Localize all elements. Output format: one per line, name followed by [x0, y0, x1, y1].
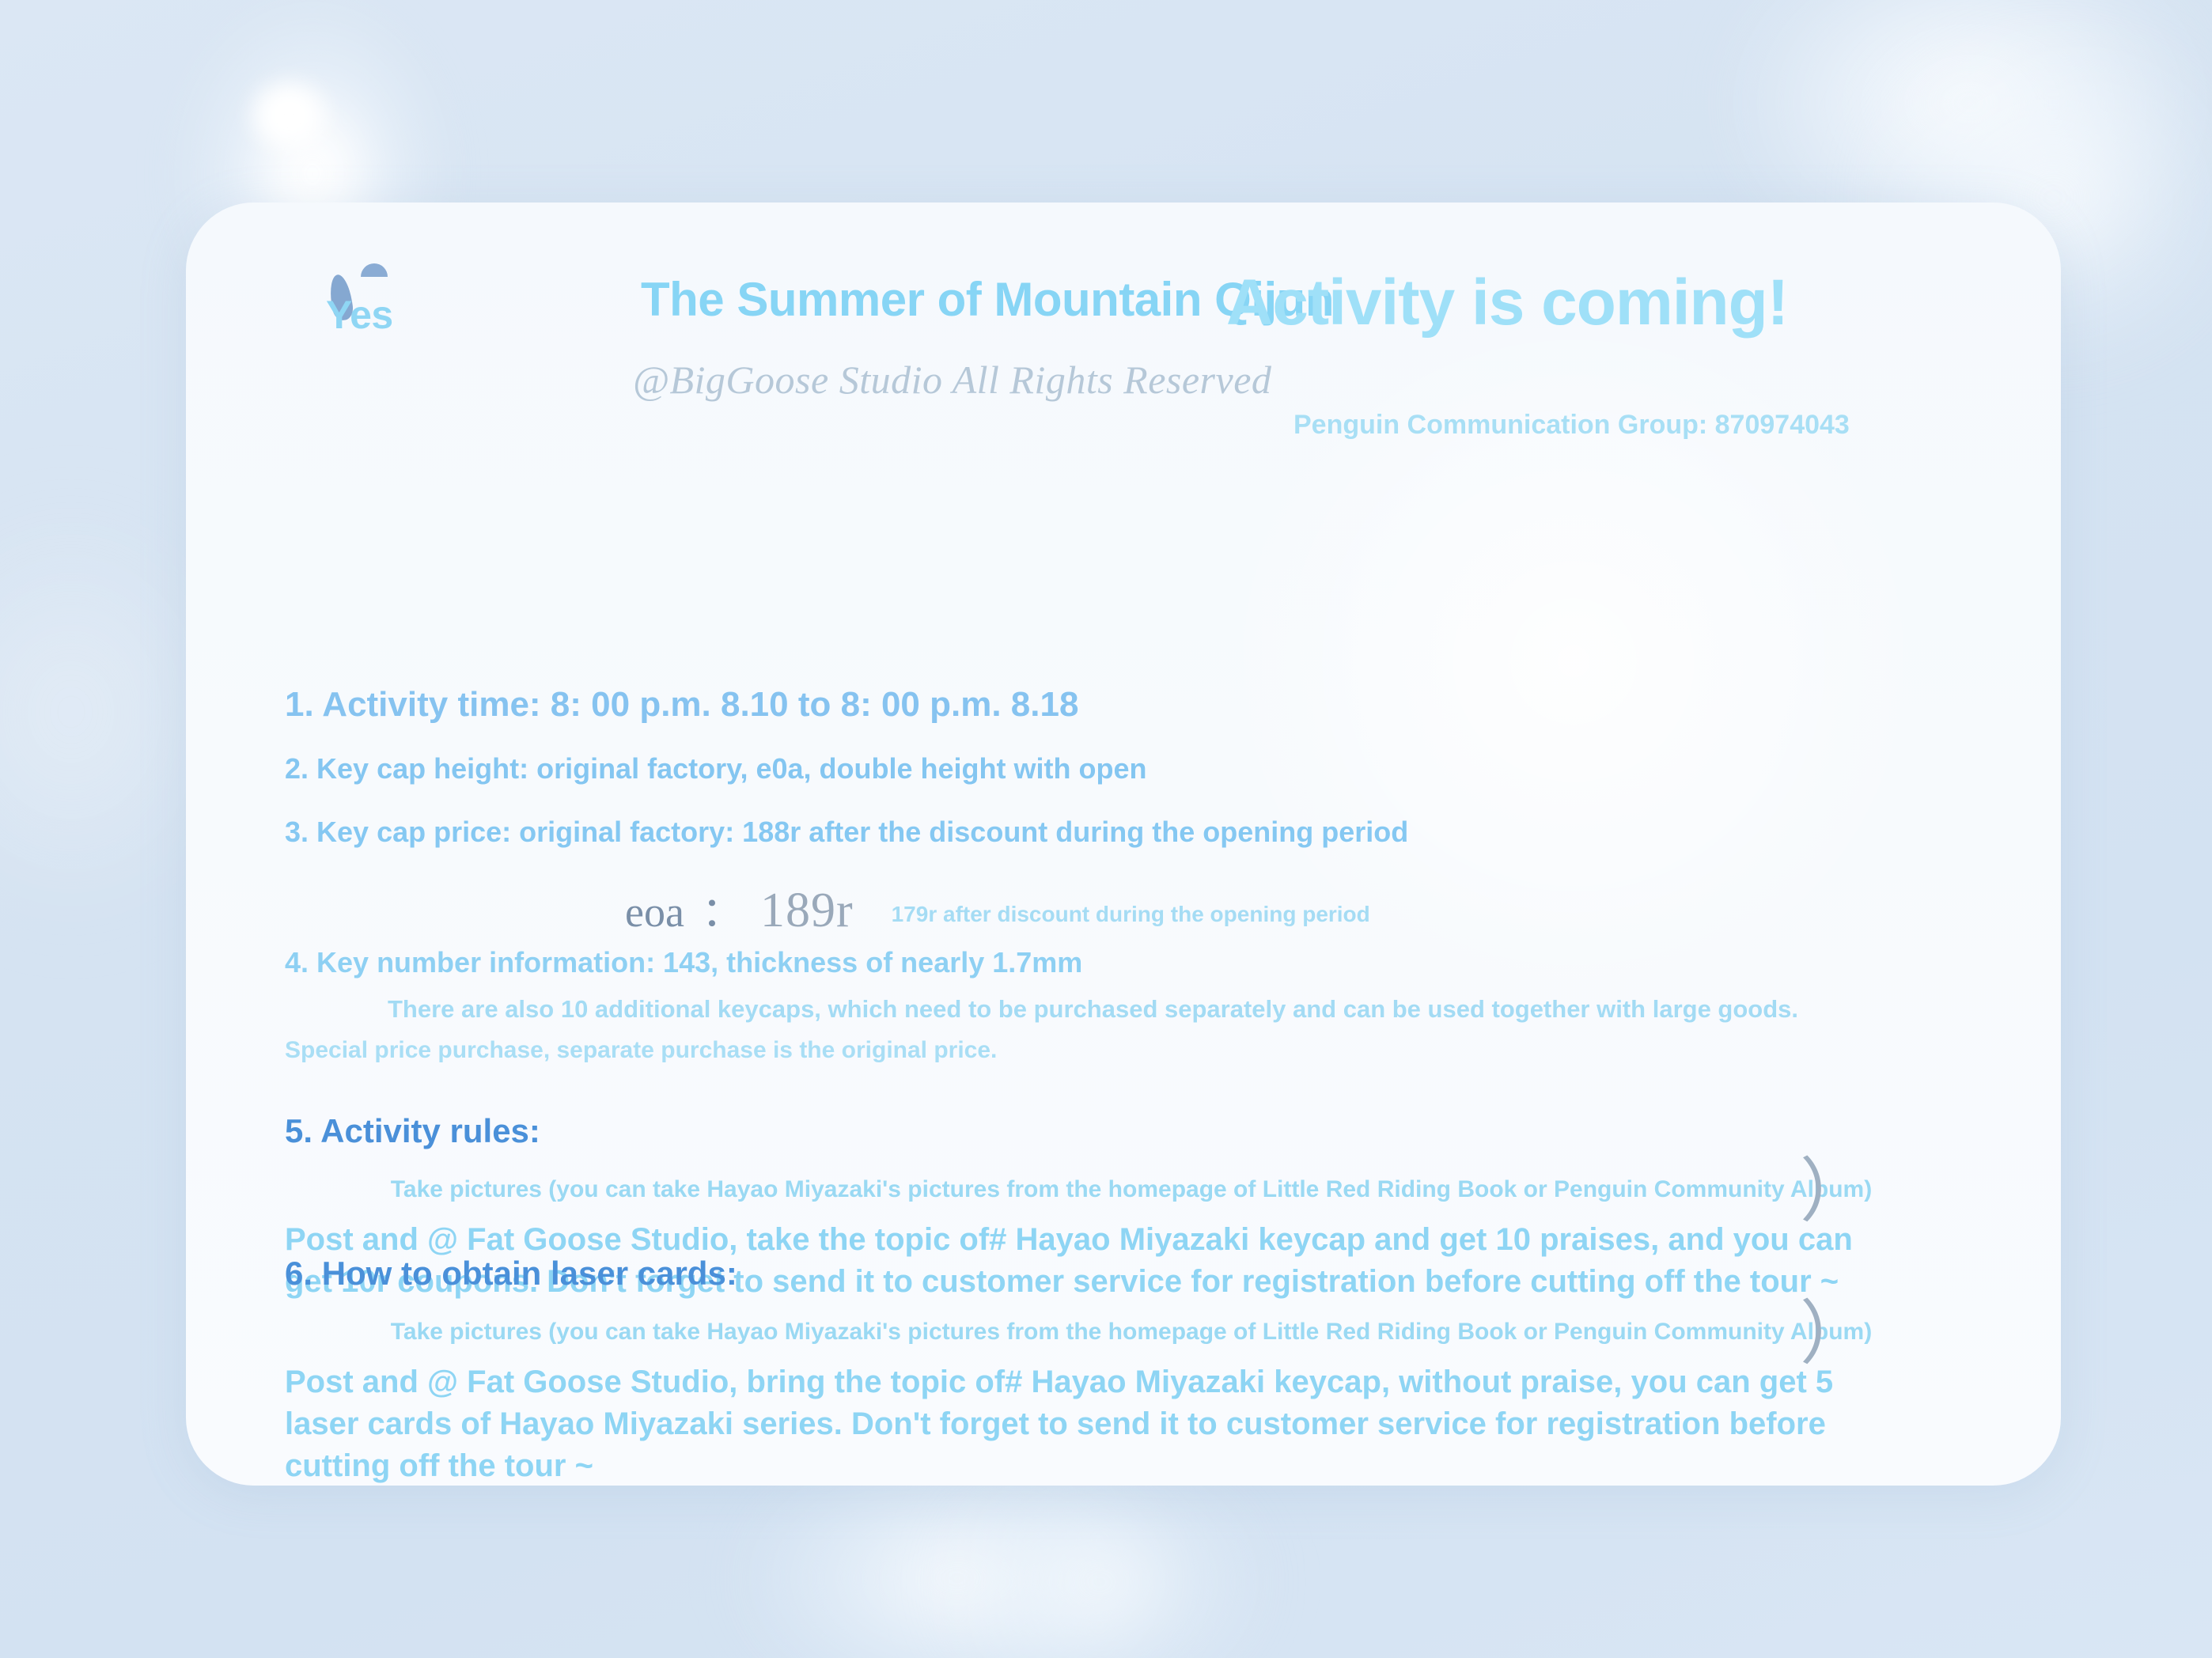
price-label: eoa [625, 888, 684, 937]
hero-title: Activity is coming! [1226, 266, 1788, 340]
price-row: eoa ： 189r 179r after discount during th… [625, 879, 1370, 939]
note-extra-keycaps: There are also 10 additional keycaps, wh… [388, 995, 1798, 1024]
section-caption-activity-rules: Take pictures (you can take Hayao Miyaza… [388, 1174, 1875, 1206]
copyright-watermark: @BigGoose Studio All Rights Reserved [633, 357, 1271, 403]
section-heading-activity-rules: 5. Activity rules: [285, 1112, 540, 1150]
price-discount-note: 179r after discount during the opening p… [892, 902, 1370, 927]
light-bloom-top-left-core [241, 71, 336, 158]
note-special-price: Special price purchase, separate purchas… [285, 1037, 997, 1064]
price-separator: ： [702, 879, 743, 938]
logo-arc-icon [361, 263, 388, 277]
info-item-keycap-height: 2. Key cap height: original factory, e0a… [285, 752, 1146, 785]
brand-logo: Yes [316, 270, 467, 349]
section-caption-laser-cards: Take pictures (you can take Hayao Miyaza… [388, 1316, 1875, 1348]
info-item-activity-time: 1. Activity time: 8: 00 p.m. 8.10 to 8: … [285, 685, 1078, 725]
section-heading-laser-cards: 6. How to obtain laser cards: [285, 1255, 737, 1293]
light-bloom-bottom-center-secondary [934, 1463, 1266, 1658]
poster-card: Yes The Summer of Mountain Qijun @BigGoo… [186, 203, 2061, 1486]
closing-paren-glyph-5: ） [1800, 1158, 1869, 1228]
info-item-key-number: 4. Key number information: 143, thicknes… [285, 946, 1082, 979]
section-body-laser-cards: Post and @ Fat Goose Studio, bring the t… [285, 1361, 1899, 1486]
info-item-keycap-price: 3. Key cap price: original factory: 188r… [285, 816, 1408, 849]
price-value: 189r [760, 883, 854, 939]
penguin-group-line: Penguin Communication Group: 870974043 [1293, 410, 1850, 441]
logo-text: Yes [326, 292, 393, 338]
closing-paren-glyph-6: ） [1800, 1300, 1869, 1370]
